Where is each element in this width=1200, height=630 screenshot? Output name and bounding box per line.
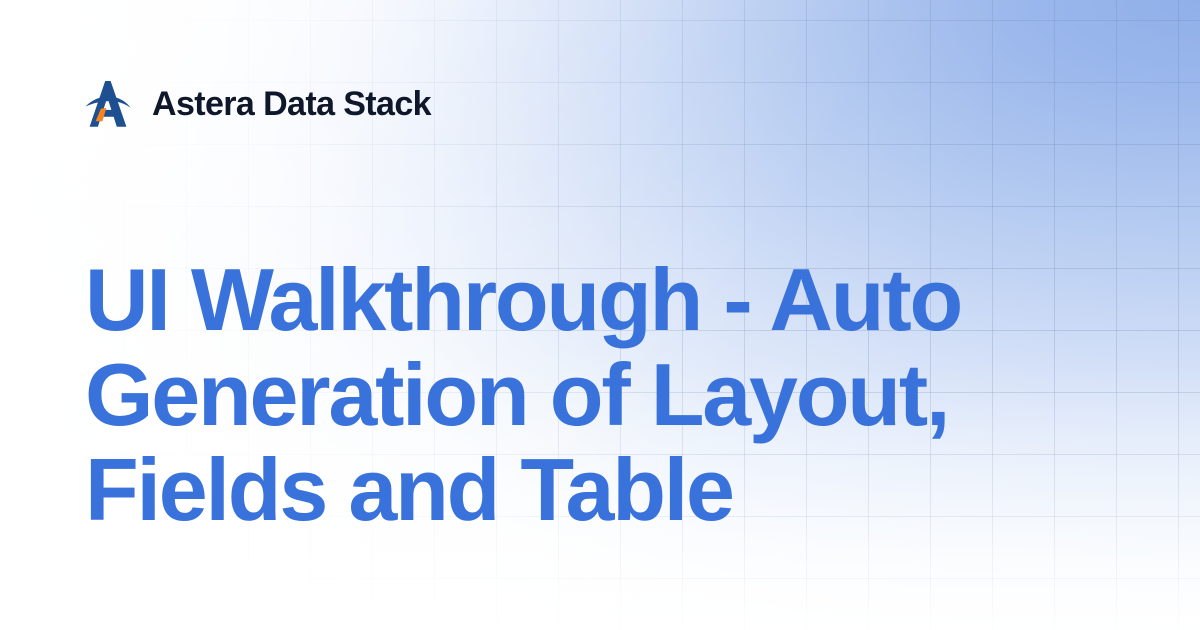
card-content: Astera Data Stack UI Walkthrough - Auto … (0, 0, 1200, 630)
page-title-line-3: Fields and Table (85, 442, 1115, 537)
social-share-card: Astera Data Stack UI Walkthrough - Auto … (0, 0, 1200, 630)
page-title-line-2: Generation of Layout, (85, 347, 1115, 442)
brand-name: Astera Data Stack (152, 87, 431, 121)
page-title: UI Walkthrough - Auto Generation of Layo… (85, 252, 1115, 537)
brand-lockup: Astera Data Stack (85, 78, 431, 130)
astera-a-logo-icon (85, 79, 131, 129)
page-title-line-1: UI Walkthrough - Auto (85, 252, 1115, 347)
